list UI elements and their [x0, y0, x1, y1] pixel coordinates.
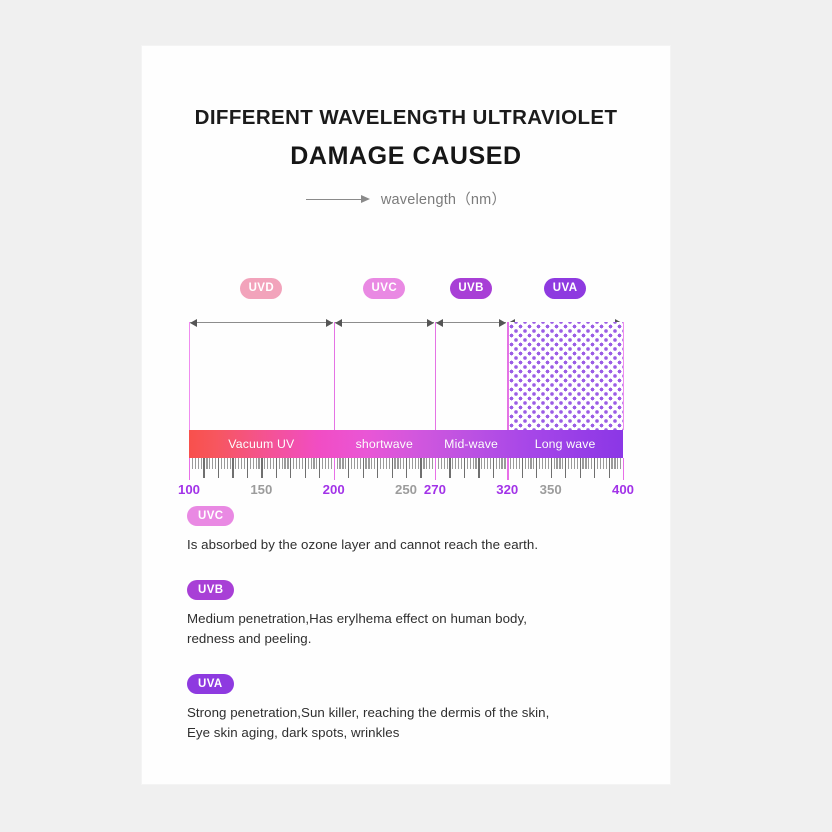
ruler-tick: [551, 458, 552, 478]
ruler-tick: [493, 458, 494, 478]
ruler-tick: [432, 458, 433, 469]
tick-label-100: 100: [178, 482, 200, 497]
ruler-tick: [412, 458, 413, 469]
ruler-tick: [354, 458, 355, 469]
band-badge-uvc: UVC: [363, 278, 405, 299]
ruler-tick: [449, 458, 450, 478]
description-line-2: Eye skin aging, dark spots, wrinkles: [187, 723, 627, 743]
ruler-tick: [267, 458, 268, 469]
description-text-uvb: Medium penetration,Has erylhema effect o…: [187, 609, 627, 649]
ruler-tick: [261, 458, 262, 478]
ruler-tick: [386, 458, 387, 469]
ruler-tick: [215, 458, 216, 469]
subtitle-row: wavelength（nm）: [142, 188, 670, 209]
ruler-tick: [478, 458, 479, 478]
ruler-tick: [212, 458, 213, 469]
ruler-tick: [519, 458, 520, 469]
ruler-tick: [342, 458, 343, 469]
wavelength-ruler: [189, 458, 623, 480]
ruler-tick: [397, 458, 398, 469]
ruler-tick: [418, 458, 419, 469]
ruler-tick: [539, 458, 540, 469]
ruler-tick: [600, 458, 601, 469]
ruler-tick: [504, 458, 505, 469]
ruler-tick: [565, 458, 566, 478]
ruler-tick: [545, 458, 546, 469]
subtitle-label: wavelength（nm）: [381, 188, 506, 209]
ruler-tick: [467, 458, 468, 469]
band-badge-uvd: UVD: [240, 278, 282, 299]
ruler-tick: [264, 458, 265, 469]
ruler-tick: [473, 458, 474, 469]
ruler-tick: [400, 458, 401, 469]
description-line-1: Medium penetration,Has erylhema effect o…: [187, 611, 527, 626]
ruler-tick: [507, 458, 508, 480]
description-badge-uvc: UVC: [187, 506, 234, 526]
ruler-tick: [406, 458, 407, 478]
ruler-tick: [444, 458, 445, 469]
ruler-tick: [580, 458, 581, 478]
ruler-tick: [357, 458, 358, 469]
axis-tick-labels: 100 150 200 250 270 320 350 400: [189, 482, 623, 502]
ruler-tick: [420, 458, 421, 478]
band-label-vacuum-uv: Vacuum UV: [189, 430, 334, 458]
right-arrow-icon: [306, 194, 372, 204]
ruler-tick: [499, 458, 500, 469]
ruler-tick: [232, 458, 233, 478]
ruler-tick: [365, 458, 366, 469]
ruler-tick: [230, 458, 231, 469]
tick-label-150: 150: [250, 482, 272, 497]
ruler-tick: [198, 458, 199, 469]
ruler-tick: [308, 458, 309, 469]
ruler-tick: [458, 458, 459, 469]
ruler-tick: [501, 458, 502, 469]
ruler-tick: [256, 458, 257, 469]
ruler-tick: [296, 458, 297, 469]
ruler-tick: [345, 458, 346, 469]
description-text-uva: Strong penetration,Sun killer, reaching …: [187, 703, 627, 743]
description-badge-uva: UVA: [187, 674, 234, 694]
ruler-tick: [452, 458, 453, 469]
ruler-tick: [597, 458, 598, 469]
tick-label-350: 350: [540, 482, 562, 497]
ruler-tick: [244, 458, 245, 469]
boundary-line-200: [334, 322, 335, 430]
ruler-tick: [603, 458, 604, 469]
ruler-tick: [577, 458, 578, 469]
ruler-tick: [594, 458, 595, 478]
ruler-tick: [606, 458, 607, 469]
ruler-tick: [617, 458, 618, 469]
ruler-tick: [374, 458, 375, 469]
ruler-tick: [270, 458, 271, 469]
tick-label-270: 270: [424, 482, 446, 497]
ruler-tick: [464, 458, 465, 478]
tick-label-320: 320: [496, 482, 518, 497]
ruler-tick: [319, 458, 320, 478]
chart-plot-area: [189, 322, 623, 430]
ruler-tick: [360, 458, 361, 469]
ruler-tick: [284, 458, 285, 469]
ruler-tick: [574, 458, 575, 469]
ruler-tick: [614, 458, 615, 469]
boundary-line-100: [189, 322, 190, 430]
ruler-tick: [276, 458, 277, 478]
ruler-tick: [585, 458, 586, 469]
ruler-tick: [287, 458, 288, 469]
ruler-tick: [438, 458, 439, 469]
tick-label-400: 400: [612, 482, 634, 497]
ruler-tick: [316, 458, 317, 469]
ruler-tick: [380, 458, 381, 469]
ruler-tick: [409, 458, 410, 469]
ruler-tick: [525, 458, 526, 469]
band-label-mid-wave: Mid-wave: [435, 430, 507, 458]
ruler-tick: [554, 458, 555, 469]
ruler-tick: [536, 458, 537, 478]
ruler-tick: [423, 458, 424, 469]
ruler-tick: [582, 458, 583, 469]
ruler-tick: [562, 458, 563, 469]
ruler-tick: [206, 458, 207, 469]
ruler-tick: [235, 458, 236, 469]
ruler-tick: [313, 458, 314, 469]
ruler-tick: [609, 458, 610, 478]
ruler-tick: [623, 458, 624, 480]
ruler-tick: [611, 458, 612, 469]
ruler-tick: [250, 458, 251, 469]
ruler-tick: [530, 458, 531, 469]
ruler-tick: [392, 458, 393, 478]
description-line-2: redness and peeling.: [187, 629, 627, 649]
ruler-tick: [241, 458, 242, 469]
ruler-tick: [279, 458, 280, 469]
boundary-line-320: [507, 322, 508, 430]
ruler-tick: [221, 458, 222, 469]
ruler-tick: [426, 458, 427, 469]
ruler-tick: [496, 458, 497, 469]
band-label-long-wave: Long wave: [507, 430, 623, 458]
band-badge-row: UVD UVC UVB UVA: [189, 278, 623, 304]
ruler-tick: [331, 458, 332, 469]
uv-spectrum-chart: UVD UVC UVB UVA Vacuum UV shortwave Mid-…: [189, 278, 623, 478]
ruler-tick: [238, 458, 239, 469]
ruler-tick: [556, 458, 557, 469]
ruler-tick: [513, 458, 514, 469]
ruler-tick: [403, 458, 404, 469]
ruler-tick: [371, 458, 372, 469]
ruler-tick: [620, 458, 621, 469]
tick-label-200: 200: [323, 482, 345, 497]
ruler-tick: [510, 458, 511, 469]
ruler-tick: [559, 458, 560, 469]
ruler-tick: [441, 458, 442, 469]
ruler-tick: [322, 458, 323, 469]
description-item-uva: UVA Strong penetration,Sun killer, reach…: [187, 674, 627, 743]
ruler-tick: [588, 458, 589, 469]
ruler-tick: [389, 458, 390, 469]
ruler-tick: [490, 458, 491, 469]
ruler-tick: [201, 458, 202, 469]
ruler-tick: [455, 458, 456, 469]
ruler-tick: [273, 458, 274, 469]
ruler-tick: [311, 458, 312, 469]
ruler-tick: [247, 458, 248, 478]
description-list: UVC Is absorbed by the ozone layer and c…: [187, 506, 627, 768]
ruler-tick: [334, 458, 335, 480]
ruler-tick: [568, 458, 569, 469]
ruler-tick: [429, 458, 430, 469]
ruler-tick: [591, 458, 592, 469]
ruler-tick: [293, 458, 294, 469]
ruler-tick: [224, 458, 225, 469]
ruler-tick: [227, 458, 228, 469]
ruler-tick: [305, 458, 306, 478]
ruler-tick: [548, 458, 549, 469]
ruler-tick: [522, 458, 523, 478]
band-badge-uvb: UVB: [450, 278, 492, 299]
ruler-tick: [435, 458, 436, 480]
ruler-tick: [195, 458, 196, 469]
description-line-1: Is absorbed by the ozone layer and canno…: [187, 537, 538, 552]
ruler-tick: [302, 458, 303, 469]
ruler-tick: [475, 458, 476, 469]
ruler-tick: [328, 458, 329, 469]
ruler-tick: [218, 458, 219, 478]
ruler-tick: [209, 458, 210, 469]
ruler-tick: [253, 458, 254, 469]
description-badge-uvb: UVB: [187, 580, 234, 600]
ruler-tick: [368, 458, 369, 469]
ruler-tick: [192, 458, 193, 469]
uva-dot-pattern: [507, 322, 623, 430]
spectrum-gradient-bar: Vacuum UV shortwave Mid-wave Long wave: [189, 430, 623, 458]
ruler-tick: [290, 458, 291, 478]
ruler-tick: [484, 458, 485, 469]
ruler-tick: [351, 458, 352, 469]
ruler-tick: [533, 458, 534, 469]
ruler-tick: [571, 458, 572, 469]
band-label-shortwave: shortwave: [334, 430, 435, 458]
ruler-tick: [394, 458, 395, 469]
ruler-tick: [337, 458, 338, 469]
ruler-tick: [377, 458, 378, 478]
ruler-tick: [470, 458, 471, 469]
tick-label-250: 250: [395, 482, 417, 497]
ruler-tick: [363, 458, 364, 478]
boundary-line-270: [435, 322, 436, 430]
ruler-tick: [258, 458, 259, 469]
ruler-tick: [481, 458, 482, 469]
ruler-tick: [447, 458, 448, 469]
ruler-tick: [383, 458, 384, 469]
ruler-tick: [282, 458, 283, 469]
page-root: DIFFERENT WAVELENGTH ULTRAVIOLET DAMAGE …: [0, 0, 832, 832]
boundary-line-400: [623, 322, 624, 430]
ruler-tick: [348, 458, 349, 478]
band-badge-uva: UVA: [544, 278, 586, 299]
description-item-uvb: UVB Medium penetration,Has erylhema effe…: [187, 580, 627, 649]
ruler-tick: [299, 458, 300, 469]
page-title-line1: DIFFERENT WAVELENGTH ULTRAVIOLET: [142, 106, 670, 130]
ruler-tick: [339, 458, 340, 469]
ruler-tick: [528, 458, 529, 469]
ruler-tick: [487, 458, 488, 469]
infographic-card: DIFFERENT WAVELENGTH ULTRAVIOLET DAMAGE …: [142, 46, 670, 784]
ruler-tick: [461, 458, 462, 469]
ruler-tick: [415, 458, 416, 469]
ruler-tick: [516, 458, 517, 469]
ruler-tick: [203, 458, 204, 478]
ruler-tick: [189, 458, 190, 480]
description-text-uvc: Is absorbed by the ozone layer and canno…: [187, 535, 627, 555]
ruler-tick: [542, 458, 543, 469]
page-title-line2: DAMAGE CAUSED: [142, 142, 670, 171]
description-item-uvc: UVC Is absorbed by the ozone layer and c…: [187, 506, 627, 555]
description-line-1: Strong penetration,Sun killer, reaching …: [187, 705, 549, 720]
ruler-tick: [325, 458, 326, 469]
